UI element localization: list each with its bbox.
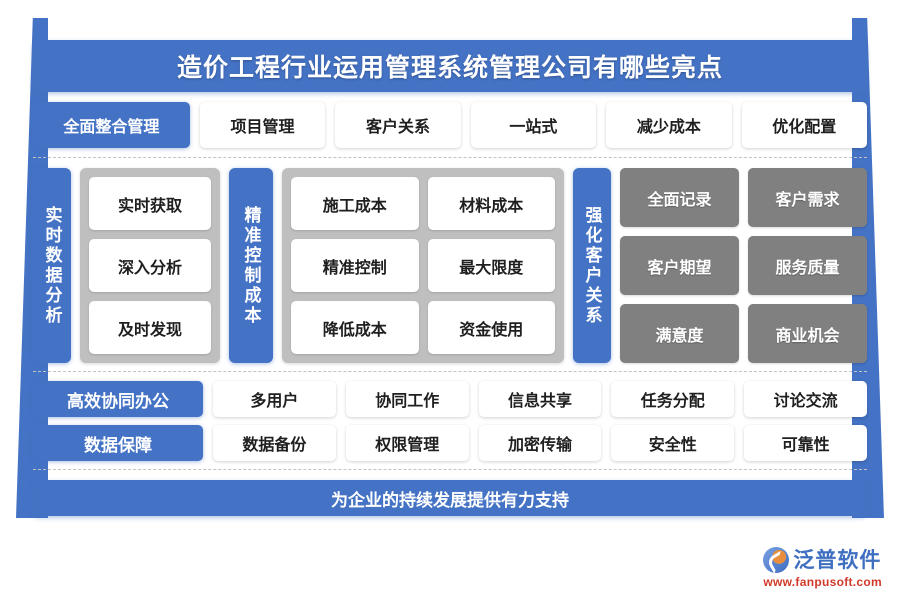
label-row-item[interactable]: 数据备份 — [213, 425, 336, 461]
label-row-items: 多用户协同工作信息共享任务分配讨论交流 — [213, 381, 867, 417]
pillar-item[interactable]: 客户需求 — [748, 168, 867, 227]
tag-item[interactable]: 优化配置 — [742, 102, 867, 148]
label-row-item[interactable]: 安全性 — [611, 425, 734, 461]
pillar-item[interactable]: 客户期望 — [620, 236, 739, 295]
label-row-item[interactable]: 任务分配 — [611, 381, 734, 417]
pillar-section: 实时数据分析实时获取深入分析及时发现精准控制成本施工成本材料成本精准控制最大限度… — [33, 168, 867, 372]
pillar-item[interactable]: 最大限度 — [428, 239, 556, 292]
pillar-group: 精准控制成本施工成本材料成本精准控制最大限度降低成本资金使用 — [229, 168, 564, 363]
pillar-item-grid: 全面记录客户需求客户期望服务质量满意度商业机会 — [620, 168, 867, 363]
pillar-item[interactable]: 资金使用 — [428, 301, 556, 354]
infographic-canvas: 泛普软件 FANPU SOFTWARE 造价工程行业运用管理系统管理公司有哪些亮… — [0, 0, 900, 600]
pillar-label[interactable]: 实时数据分析 — [33, 168, 71, 363]
brand-logo[interactable]: 泛普软件 www.fanpusoft.com — [763, 547, 882, 588]
label-row-item[interactable]: 信息共享 — [479, 381, 602, 417]
page-title: 造价工程行业运用管理系统管理公司有哪些亮点 — [177, 48, 723, 84]
label-row-item[interactable]: 可靠性 — [744, 425, 867, 461]
label-row-item[interactable]: 协同工作 — [346, 381, 469, 417]
pillar-item[interactable]: 精准控制 — [291, 239, 419, 292]
tag-item[interactable]: 减少成本 — [606, 102, 731, 148]
brand-logo-row: 泛普软件 — [763, 547, 882, 573]
fanpu-logo-icon — [763, 547, 789, 573]
label-row-items: 数据备份权限管理加密传输安全性可靠性 — [213, 425, 867, 461]
label-row-item[interactable]: 权限管理 — [346, 425, 469, 461]
tag-item[interactable]: 客户关系 — [335, 102, 460, 148]
brand-url: www.fanpusoft.com — [763, 576, 882, 588]
label-row: 数据保障数据备份权限管理加密传输安全性可靠性 — [33, 425, 867, 461]
pillar-item[interactable]: 施工成本 — [291, 177, 419, 230]
pillar-item[interactable]: 商业机会 — [748, 304, 867, 363]
footer-text: 为企业的持续发展提供有力支持 — [331, 486, 569, 511]
tag-item[interactable]: 一站式 — [471, 102, 596, 148]
page-title-bar: 造价工程行业运用管理系统管理公司有哪些亮点 — [33, 40, 867, 92]
label-row-item[interactable]: 多用户 — [213, 381, 336, 417]
pillar-item[interactable]: 深入分析 — [89, 239, 211, 292]
label-row-title[interactable]: 数据保障 — [33, 425, 203, 461]
label-row-item[interactable]: 加密传输 — [479, 425, 602, 461]
content-column: 造价工程行业运用管理系统管理公司有哪些亮点 全面整合管理项目管理客户关系一站式减… — [33, 40, 867, 516]
pillar-item-grid: 施工成本材料成本精准控制最大限度降低成本资金使用 — [282, 168, 564, 363]
pillar-item[interactable]: 降低成本 — [291, 301, 419, 354]
brand-name: 泛普软件 — [793, 550, 881, 571]
label-row-section: 高效协同办公多用户协同工作信息共享任务分配讨论交流数据保障数据备份权限管理加密传… — [33, 381, 867, 470]
tag-item[interactable]: 全面整合管理 — [33, 102, 190, 148]
tag-item[interactable]: 项目管理 — [200, 102, 325, 148]
pillar-group: 实时数据分析实时获取深入分析及时发现 — [33, 168, 220, 363]
label-row: 高效协同办公多用户协同工作信息共享任务分配讨论交流 — [33, 381, 867, 417]
pillar-item[interactable]: 材料成本 — [428, 177, 556, 230]
pillar-group: 强化客户关系全面记录客户需求客户期望服务质量满意度商业机会 — [573, 168, 867, 363]
pillar-item[interactable]: 服务质量 — [748, 236, 867, 295]
pillar-label[interactable]: 强化客户关系 — [573, 168, 611, 363]
pillar-label[interactable]: 精准控制成本 — [229, 168, 273, 363]
pillar-item[interactable]: 及时发现 — [89, 301, 211, 354]
pillar-item[interactable]: 实时获取 — [89, 177, 211, 230]
pillar-item[interactable]: 满意度 — [620, 304, 739, 363]
label-row-item[interactable]: 讨论交流 — [744, 381, 867, 417]
pillar-item-grid: 实时获取深入分析及时发现 — [80, 168, 220, 363]
tag-row: 全面整合管理项目管理客户关系一站式减少成本优化配置 — [33, 102, 867, 158]
pillar-item[interactable]: 全面记录 — [620, 168, 739, 227]
footer-banner: 为企业的持续发展提供有力支持 — [33, 480, 867, 516]
label-row-title[interactable]: 高效协同办公 — [33, 381, 203, 417]
